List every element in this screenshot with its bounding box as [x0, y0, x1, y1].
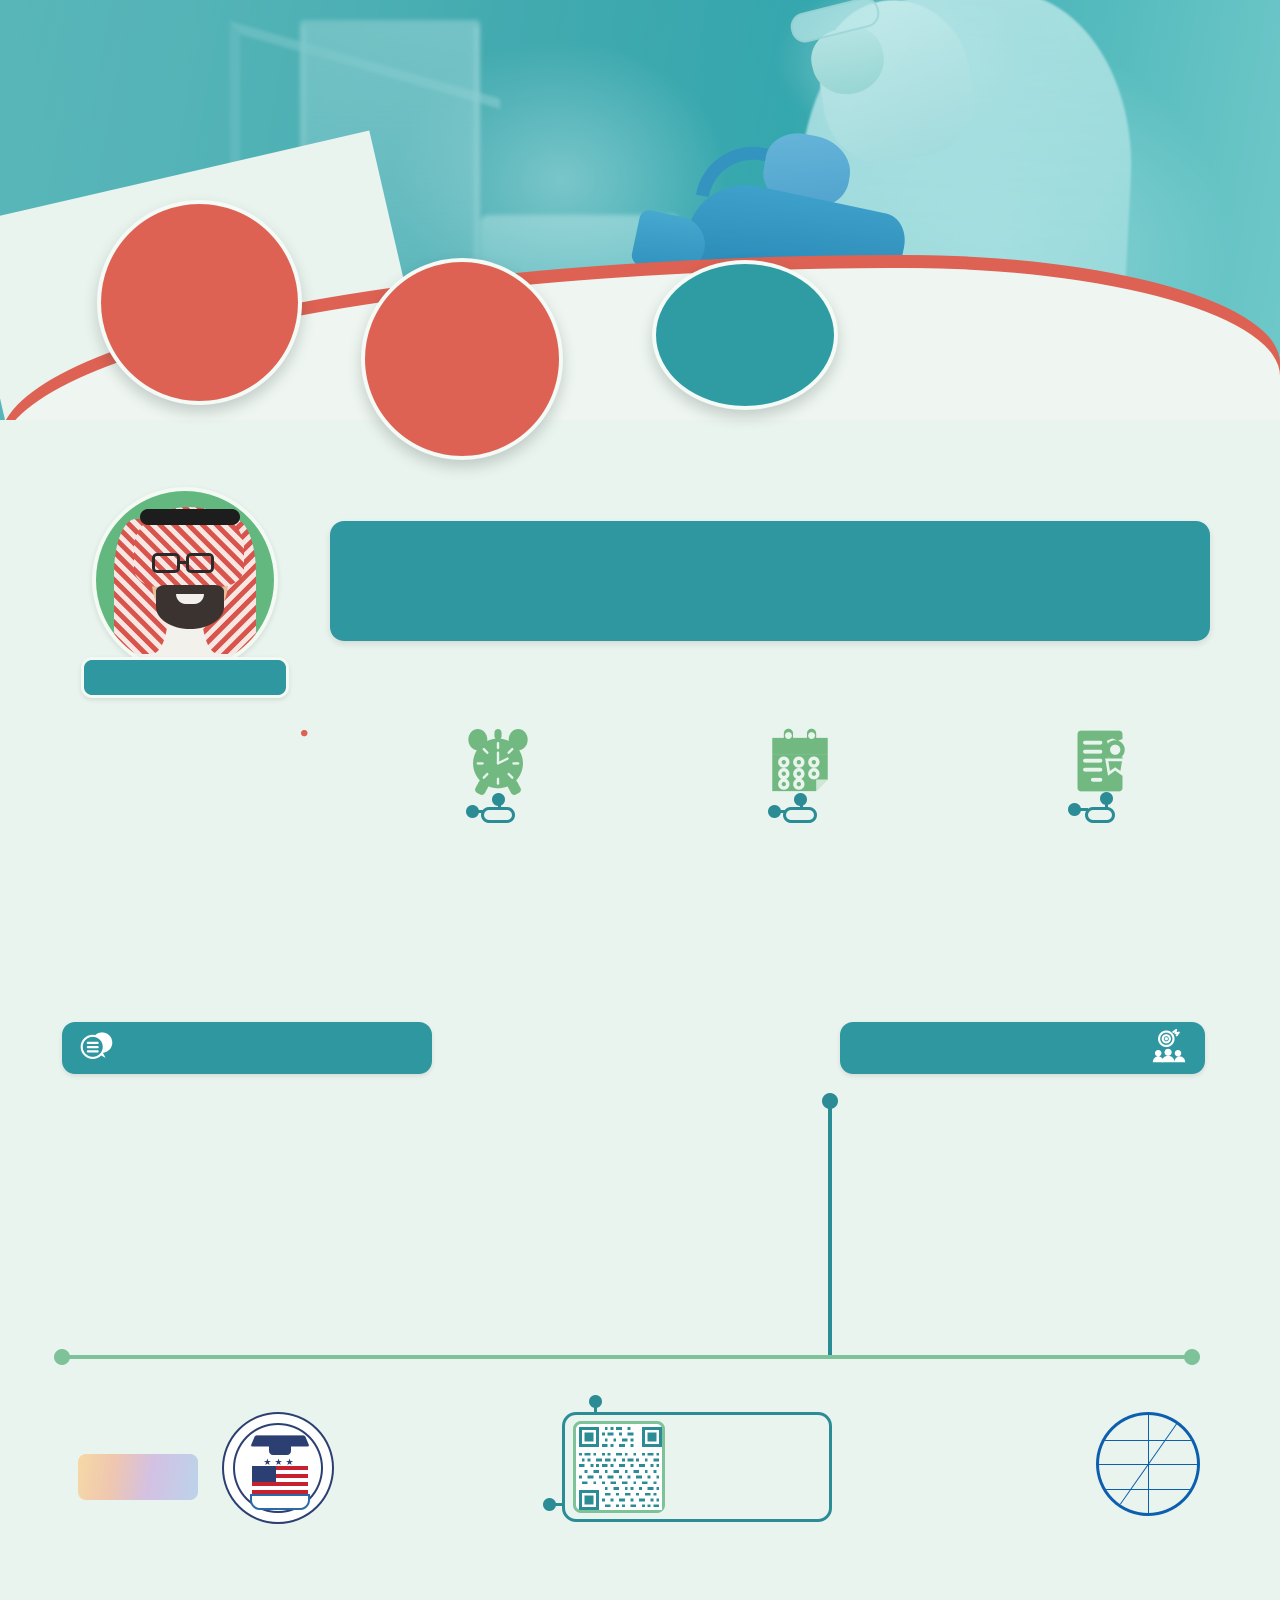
- american-board-agency-logo: ★★★: [222, 1412, 348, 1524]
- speaker-avatar: [92, 487, 278, 673]
- audience-block: [820, 1092, 1220, 1153]
- course-title-banner: [330, 521, 1210, 641]
- time-info: [368, 715, 628, 827]
- date-info: [670, 715, 930, 836]
- date-pill: [783, 807, 817, 823]
- tamara-logo: [78, 1454, 198, 1500]
- qosco-logo: [856, 1418, 1086, 1422]
- audience-section-header: [840, 1022, 1205, 1074]
- target-people-icon: [1151, 1028, 1187, 1069]
- audience-list: [820, 1092, 1220, 1100]
- footer-divider: [62, 1355, 1192, 1359]
- registration-card[interactable]: [562, 1412, 832, 1522]
- objectives-list: [58, 1092, 818, 1113]
- audience-timeline: [828, 1106, 832, 1356]
- course-price-badge: [361, 258, 563, 460]
- certificate-icon: [960, 715, 1240, 807]
- iso-logo: [1068, 1412, 1228, 1527]
- qr-code-icon[interactable]: [573, 1421, 665, 1513]
- certificates-info: [960, 715, 1240, 827]
- time-pill: [481, 807, 515, 823]
- speaker-block: [60, 487, 310, 720]
- globe-icon: [1096, 1412, 1200, 1516]
- certificates-pill: [1085, 807, 1115, 823]
- board-price-badge: [97, 200, 302, 405]
- speaker-name: [81, 657, 289, 698]
- course-type-badge: [652, 260, 838, 410]
- objectives-section-header: [62, 1022, 432, 1074]
- course-info-strip: [340, 715, 1240, 915]
- aba-seal-icon: ★★★: [222, 1412, 334, 1524]
- chat-lines-icon: [80, 1029, 114, 1068]
- footer-logos: ★★★: [0, 1390, 1280, 1570]
